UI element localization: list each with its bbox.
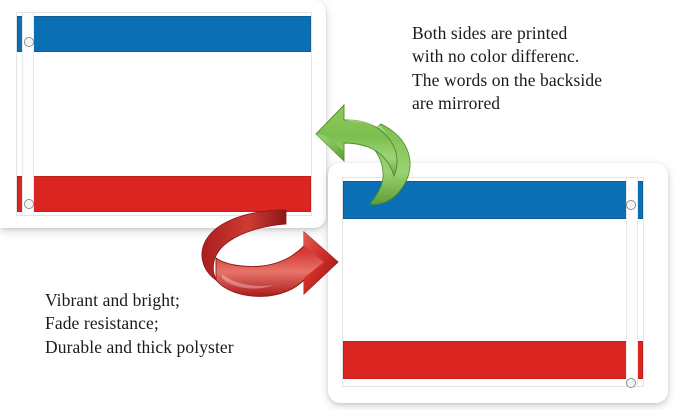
front-flag-grommet-bottom-icon (24, 199, 34, 209)
back-flag-grommet-top-icon (626, 200, 636, 210)
front-side-flag-card (0, 0, 326, 228)
product-infographic: Both sides are printed with no color dif… (0, 0, 679, 410)
front-flag-blue-band (17, 16, 311, 52)
front-flag-red-band (17, 176, 311, 212)
back-flag-grommet-bottom-icon (626, 378, 636, 388)
caption-bottom-left: Vibrant and bright; Fade resistance; Dur… (45, 289, 234, 359)
red-curved-arrow-icon (198, 208, 346, 302)
back-flag-sheet (342, 177, 644, 387)
caption-top-right: Both sides are printed with no color dif… (412, 22, 602, 115)
green-curved-arrow-icon (286, 96, 418, 208)
front-flag-grommet-top-icon (24, 37, 34, 47)
front-flag-sheet (16, 12, 312, 216)
back-flag-red-band (343, 341, 643, 379)
